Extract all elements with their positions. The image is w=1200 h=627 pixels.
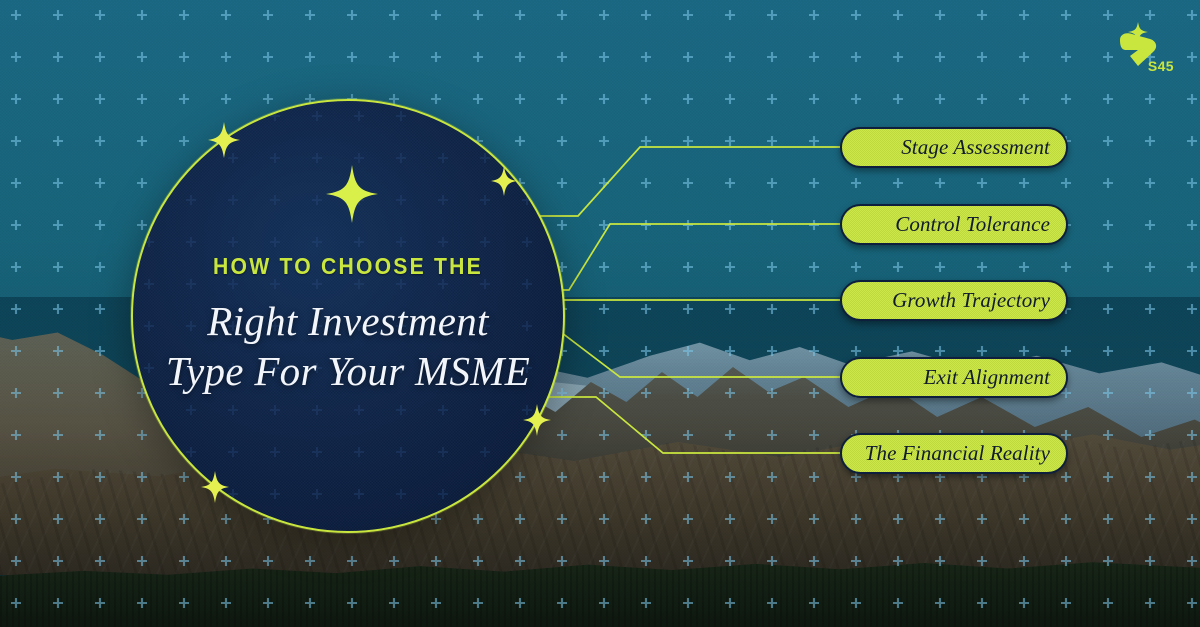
hero-circle: HOW TO CHOOSE THE Right Investment Type … xyxy=(131,99,565,533)
brand-wordmark: S45 xyxy=(1148,58,1174,74)
list-item-label: Stage Assessment xyxy=(901,135,1050,160)
list-item-the-financial-reality[interactable]: The Financial Reality xyxy=(840,433,1068,474)
brand-logo[interactable]: S45 xyxy=(1108,20,1180,72)
list-item-label: The Financial Reality xyxy=(865,441,1050,466)
kicker-text: HOW TO CHOOSE THE xyxy=(174,253,522,280)
circle-text-block: HOW TO CHOOSE THE Right Investment Type … xyxy=(133,253,563,396)
list-item-growth-trajectory[interactable]: Growth Trajectory xyxy=(840,280,1068,321)
list-item-exit-alignment[interactable]: Exit Alignment xyxy=(840,357,1068,398)
list-item-control-tolerance[interactable]: Control Tolerance xyxy=(840,204,1068,245)
list-item-label: Exit Alignment xyxy=(924,365,1050,390)
list-item-label: Growth Trajectory xyxy=(892,288,1050,313)
headline-line-1: Right Investment xyxy=(159,296,537,346)
list-item-stage-assessment[interactable]: Stage Assessment xyxy=(840,127,1068,168)
headline-line-2: Type For Your MSME xyxy=(159,346,537,396)
infographic-canvas: HOW TO CHOOSE THE Right Investment Type … xyxy=(0,0,1200,627)
list-item-label: Control Tolerance xyxy=(895,212,1050,237)
